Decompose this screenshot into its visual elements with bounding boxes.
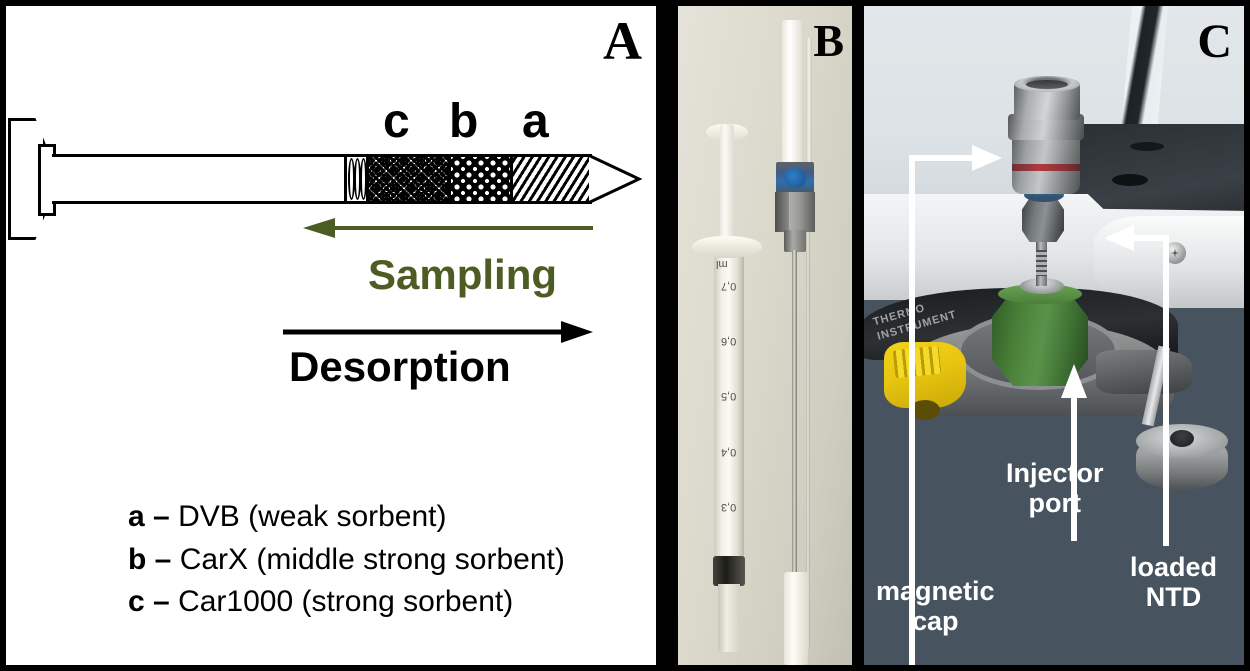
- syringe-graduation: 0,3: [721, 501, 736, 513]
- ntd-metal-nut-shade: [775, 192, 789, 232]
- magnetic-cap-label: magnetic cap: [876, 576, 995, 636]
- loaded-ntd-label-line2: NTD: [1130, 582, 1217, 612]
- desorption-arrow-icon: [283, 320, 593, 344]
- panel-a-legend: a – DVB (weak sorbent) b – CarX (middle …: [128, 496, 648, 624]
- injector-port-label-line2: port: [1006, 488, 1104, 518]
- syringe-graduation: 0,5: [721, 390, 736, 402]
- syringe-graduation: 0,7: [721, 280, 736, 292]
- ntd-white-sleeve: [784, 572, 808, 665]
- legend-item-c: c – Car1000 (strong sorbent): [128, 581, 648, 624]
- syringe-graduation: 0,4: [721, 446, 736, 458]
- syringe-unit-label: ml: [716, 258, 728, 270]
- needle-shaft: [52, 154, 348, 204]
- panel-b-letter: B: [813, 18, 844, 64]
- injector-port-label-line1: Injector: [1006, 458, 1104, 488]
- loaded-ntd-label: loaded NTD: [1130, 552, 1217, 612]
- magnetic-cap-label-line1: magnetic: [876, 576, 995, 606]
- syringe-graduations: 0,2 0,3 0,4 0,5 0,6 0,7: [714, 274, 744, 574]
- figure-container: A c b a: [0, 0, 1250, 671]
- sorbent-bed: [344, 154, 592, 204]
- syringe-plunger-rod: [720, 124, 734, 242]
- sampling-label: Sampling: [368, 254, 557, 296]
- ntd-thin-rod: [806, 38, 812, 164]
- syringe-graduation: 0,6: [721, 335, 736, 347]
- legend-dash: –: [153, 585, 170, 618]
- legend-item-a: a – DVB (weak sorbent): [128, 496, 648, 539]
- ntd-blue-marker: [784, 168, 806, 188]
- legend-key-a: a: [128, 500, 145, 533]
- sorbent-section-a: [513, 157, 589, 201]
- sampling-arrow-icon: [303, 216, 593, 240]
- legend-key-c: c: [128, 585, 145, 618]
- magnetic-cap-label-line2: cap: [876, 606, 995, 636]
- spring-coil: [360, 158, 367, 200]
- sorbent-section-b: [451, 157, 513, 201]
- ntd-white-handle: [782, 20, 802, 165]
- ntd-photo: [770, 20, 826, 665]
- needle-tip-icon: [589, 154, 643, 204]
- syringe-nozzle: [718, 584, 740, 652]
- legend-dash: –: [153, 500, 170, 533]
- legend-key-b: b: [128, 543, 146, 576]
- syringe-photo: ml 0,2 0,3 0,4 0,5 0,6 0,7: [696, 124, 762, 665]
- legend-dash: –: [155, 543, 172, 576]
- sorbent-section-c: [369, 157, 451, 201]
- bed-label-b: b: [449, 98, 478, 146]
- panel-c-letter: C: [1197, 18, 1232, 66]
- bed-label-a: a: [522, 98, 549, 146]
- legend-desc-c: Car1000 (strong sorbent): [178, 585, 513, 618]
- panel-a-letter: A: [603, 14, 642, 68]
- legend-desc-b: CarX (middle strong sorbent): [180, 543, 565, 576]
- ntd-collar: [784, 230, 806, 252]
- injector-port-label: Injector port: [1006, 458, 1104, 518]
- ntd-needle: [792, 250, 797, 590]
- bed-label-c: c: [383, 98, 410, 146]
- desorption-label: Desorption: [289, 346, 511, 388]
- legend-item-b: b – CarX (middle strong sorbent): [128, 539, 648, 582]
- panel-c: THERMO INSTRUMENT: [864, 6, 1244, 665]
- needle-hub: [8, 118, 54, 240]
- loaded-ntd-label-line1: loaded: [1130, 552, 1217, 582]
- syringe-stopper-shade: [713, 556, 745, 586]
- bed-spring-retainer: [347, 157, 369, 201]
- panel-b: ml 0,2 0,3 0,4 0,5 0,6 0,7: [678, 6, 852, 665]
- legend-desc-a: DVB (weak sorbent): [178, 500, 446, 533]
- panel-a: A c b a: [6, 6, 656, 665]
- syringe-finger-flange: [692, 236, 762, 258]
